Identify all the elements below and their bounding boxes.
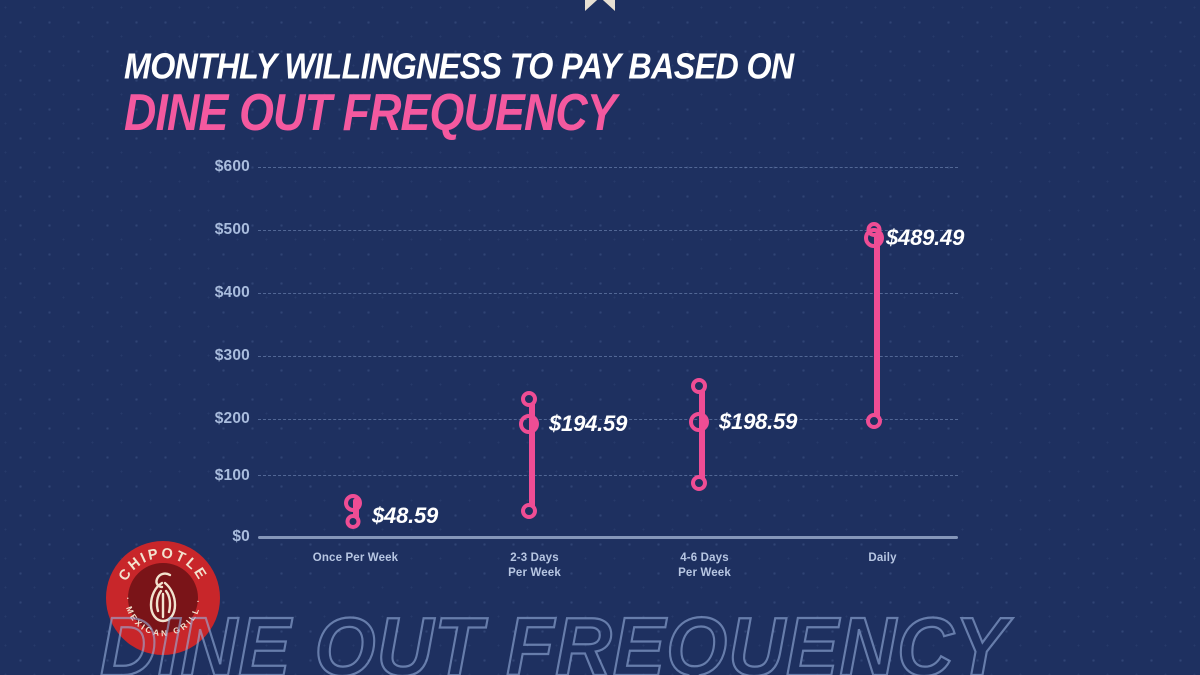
xtick-line-1: 2-3 Days: [510, 552, 559, 564]
ytick-label-300: $300: [172, 347, 250, 365]
value-label-daily: $489.49: [886, 225, 964, 251]
xtick-line-1: Daily: [868, 552, 896, 564]
upper-marker: [691, 378, 707, 394]
xtick-label-4-6-days: 4-6 Days Per Week: [637, 551, 772, 581]
mean-marker: [689, 412, 709, 432]
mean-marker: [519, 414, 539, 434]
xtick-line-1: Once Per Week: [313, 552, 398, 564]
gridline-100: [258, 475, 958, 476]
value-label-2-3-days: $194.59: [549, 411, 627, 437]
chipotle-logo-svg: CHIPOTLE · MEXICAN GRILL ·: [104, 539, 222, 657]
gridline-400: [258, 293, 958, 294]
data-stem: [699, 385, 705, 485]
value-label-4-6-days: $198.59: [719, 409, 797, 435]
xtick-line-2: Per Week: [508, 567, 561, 579]
data-stem: [874, 229, 880, 422]
gridline-500: [258, 230, 958, 231]
ytick-label-600: $600: [172, 158, 250, 176]
upper-marker: [344, 494, 362, 512]
axis-baseline: [258, 536, 958, 539]
lower-marker: [521, 503, 537, 519]
lower-marker: [346, 514, 361, 529]
chipotle-logo: CHIPOTLE · MEXICAN GRILL ·: [104, 539, 222, 657]
ytick-label-200: $200: [172, 410, 250, 428]
mean-marker: [864, 228, 884, 248]
ytick-label-100: $100: [172, 467, 250, 485]
gridline-600: [258, 167, 958, 168]
ytick-label-400: $400: [172, 284, 250, 302]
gridline-300: [258, 356, 958, 357]
xtick-line-1: 4-6 Days: [680, 552, 729, 564]
xtick-label-daily: Daily: [815, 551, 950, 566]
infographic-slide: MONTHLY WILLINGNESS TO PAY BASED ON DINE…: [0, 0, 1200, 675]
lower-marker: [691, 475, 707, 491]
ytick-label-500: $500: [172, 221, 250, 239]
xtick-label-2-3-days: 2-3 Days Per Week: [467, 551, 602, 581]
lower-marker: [866, 413, 882, 429]
upper-marker: [521, 391, 537, 407]
value-label-once-per-week: $48.59: [372, 503, 438, 529]
xtick-line-2: Per Week: [678, 567, 731, 579]
xtick-label-once-per-week: Once Per Week: [288, 551, 423, 566]
